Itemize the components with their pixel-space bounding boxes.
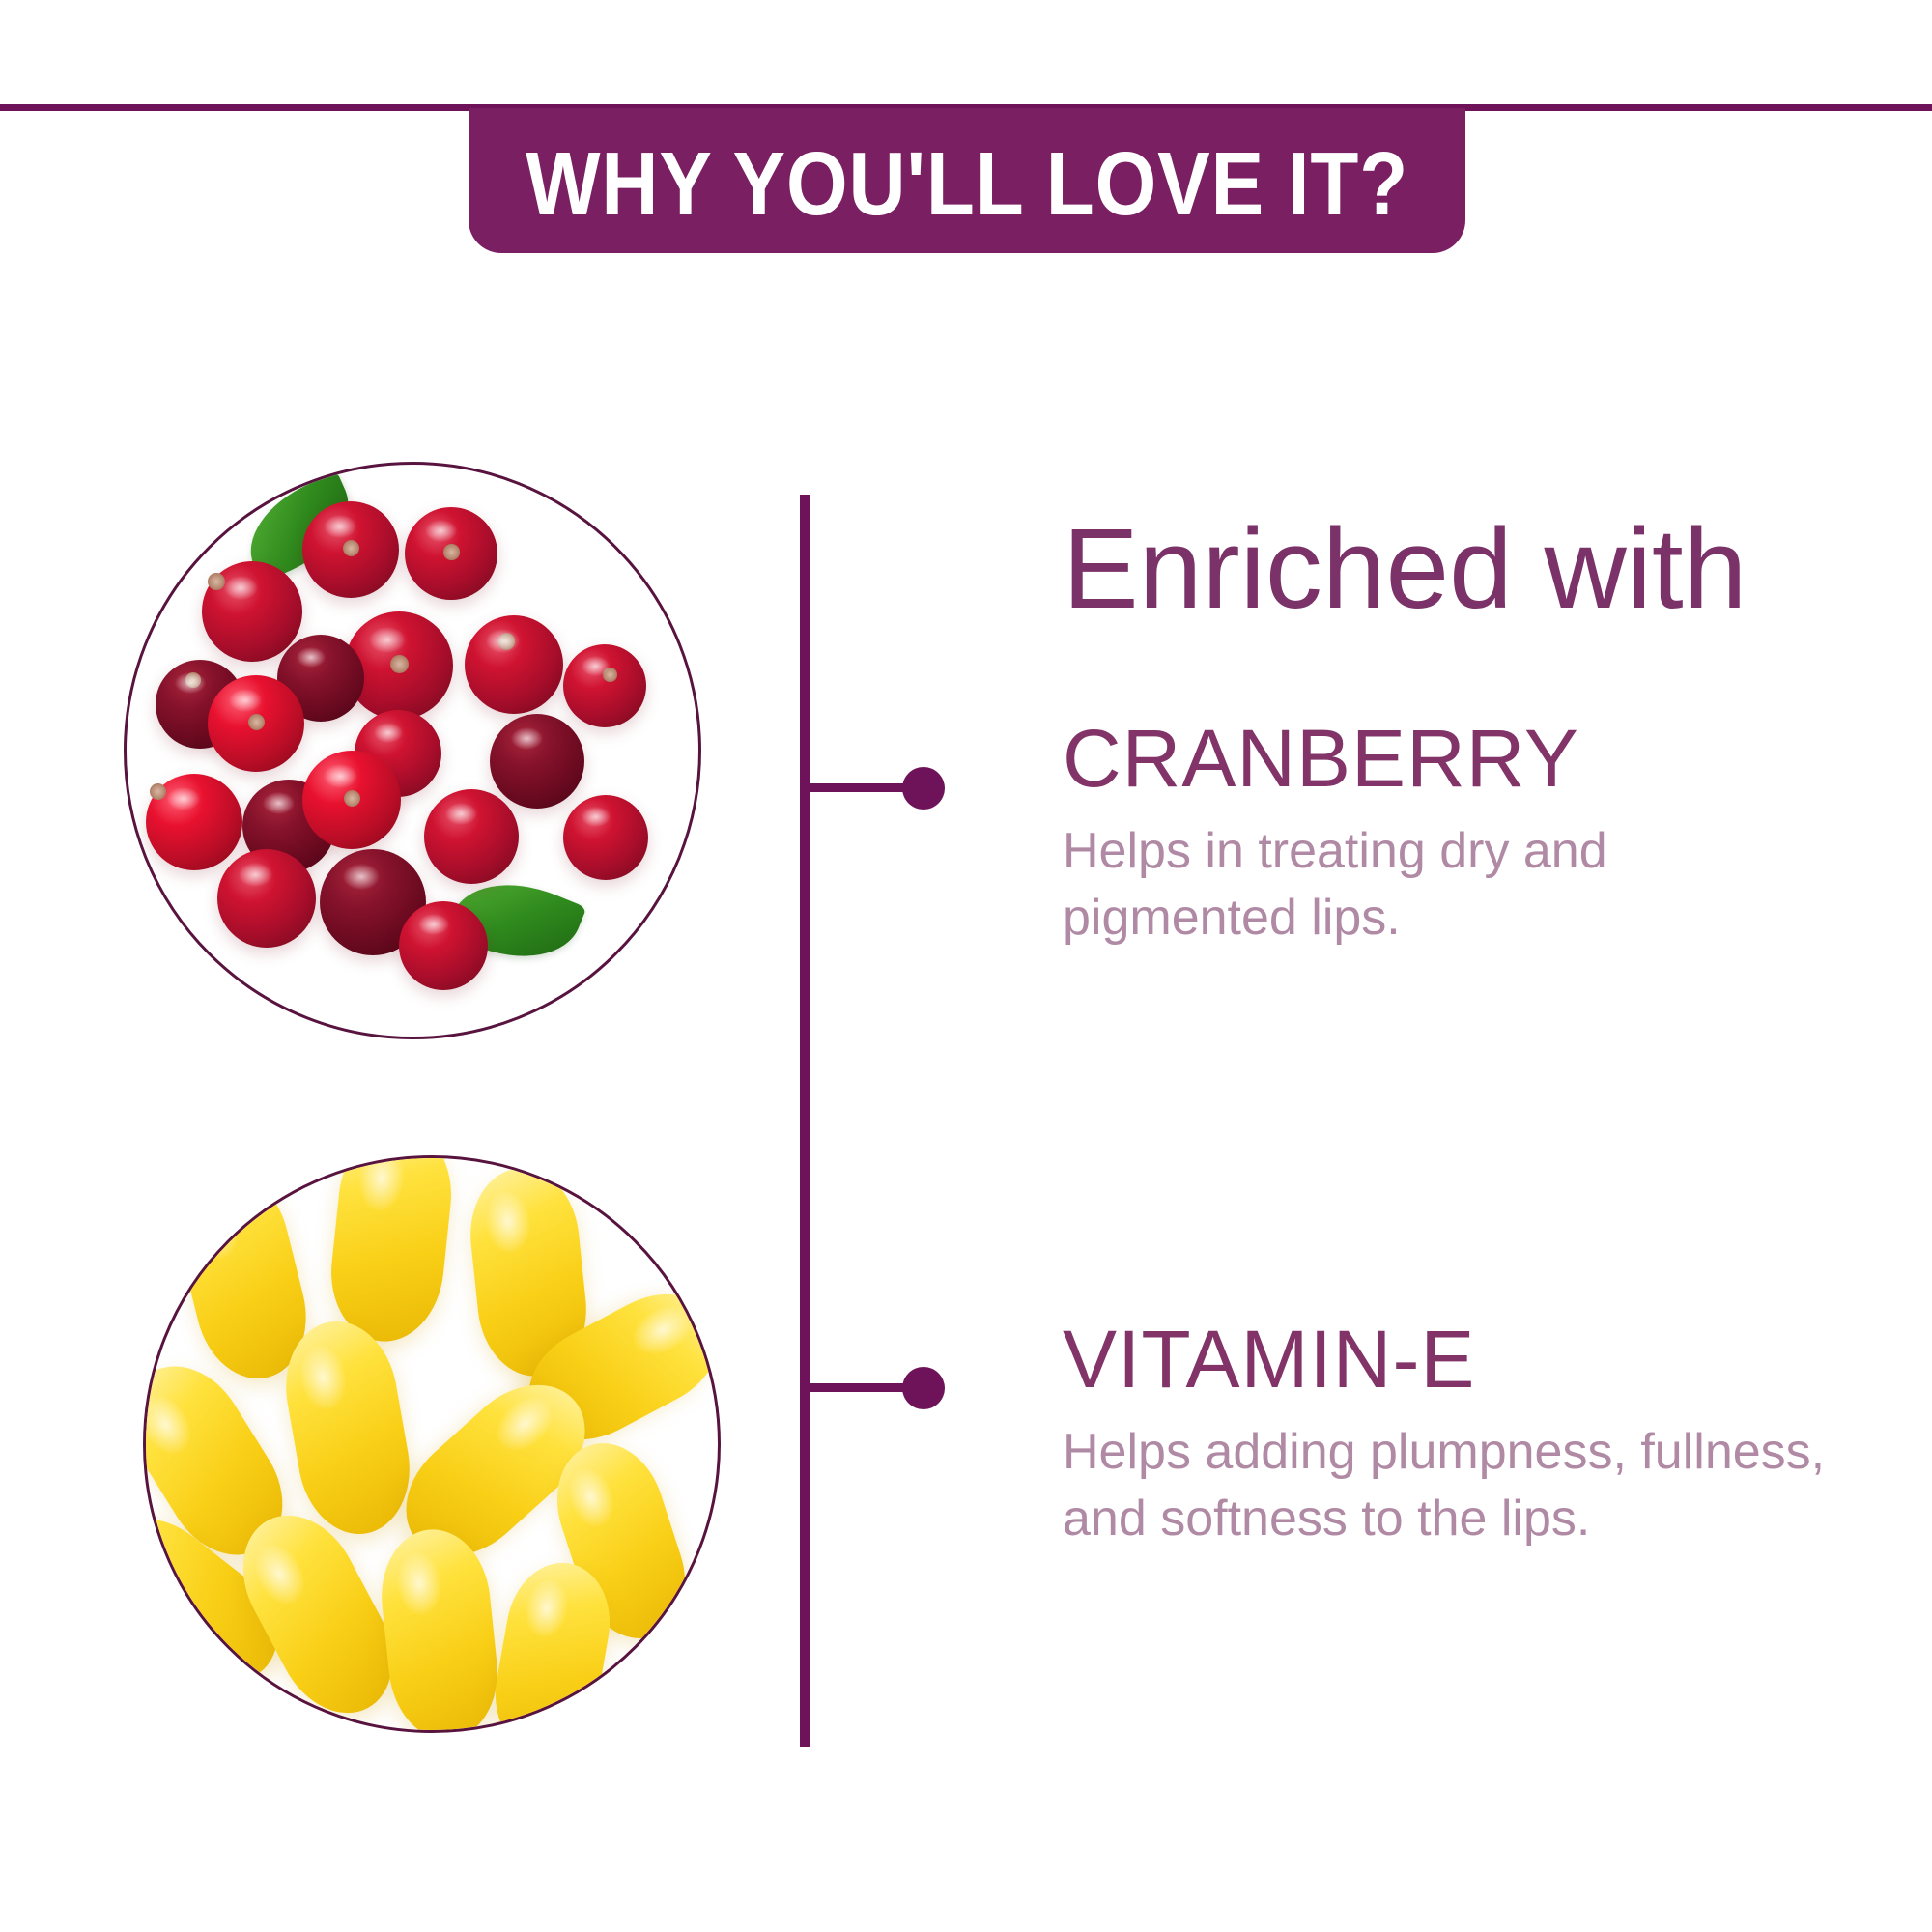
bullet-dot-vitamin-e [902, 1367, 945, 1409]
cranberry-berry [217, 849, 316, 948]
timeline-spine [800, 495, 810, 1747]
cranberry-berry [563, 795, 648, 880]
ingredient-description: Helps adding plumpness, fullness, and so… [1063, 1419, 1835, 1553]
ingredient-block-cranberry: CRANBERRY Helps in treating dry and pigm… [1063, 715, 1855, 952]
ingredient-title: CRANBERRY [1063, 715, 1855, 803]
connector-line-cranberry [810, 783, 910, 792]
cranberry-berry [424, 789, 519, 884]
bullet-dot-cranberry [902, 767, 945, 810]
ingredient-title: VITAMIN-E [1063, 1316, 1855, 1404]
connector-line-vitamin-e [810, 1383, 910, 1392]
cranberry-berry [146, 774, 242, 870]
cranberry-berry [490, 714, 584, 809]
ingredient-block-vitamin-e: VITAMIN-E Helps adding plumpness, fullne… [1063, 1316, 1855, 1553]
cranberry-berry [405, 507, 497, 600]
cranberry-berry [302, 501, 399, 598]
softgel-capsule [325, 1155, 459, 1347]
softgel-capsule [275, 1313, 421, 1543]
cranberry-berry [302, 751, 401, 849]
page-title: WHY YOU'LL LOVE IT? [526, 139, 1408, 229]
header-banner: WHY YOU'LL LOVE IT? [469, 108, 1465, 253]
cranberry-photo [124, 462, 701, 1039]
cranberry-berry [465, 615, 563, 714]
section-heading: Enriched with [1063, 510, 1747, 630]
vitamin-e-capsules-photo [143, 1155, 721, 1733]
cranberry-berry [563, 644, 646, 727]
cranberry-berry [208, 675, 304, 772]
cranberry-berry [399, 901, 488, 990]
cranberry-photo-content [127, 465, 698, 1037]
cranberry-berry [202, 561, 302, 662]
softgel-capsule [375, 1524, 504, 1733]
ingredient-description: Helps in treating dry and pigmented lips… [1063, 818, 1835, 952]
vitamin-e-photo-content [146, 1158, 718, 1730]
